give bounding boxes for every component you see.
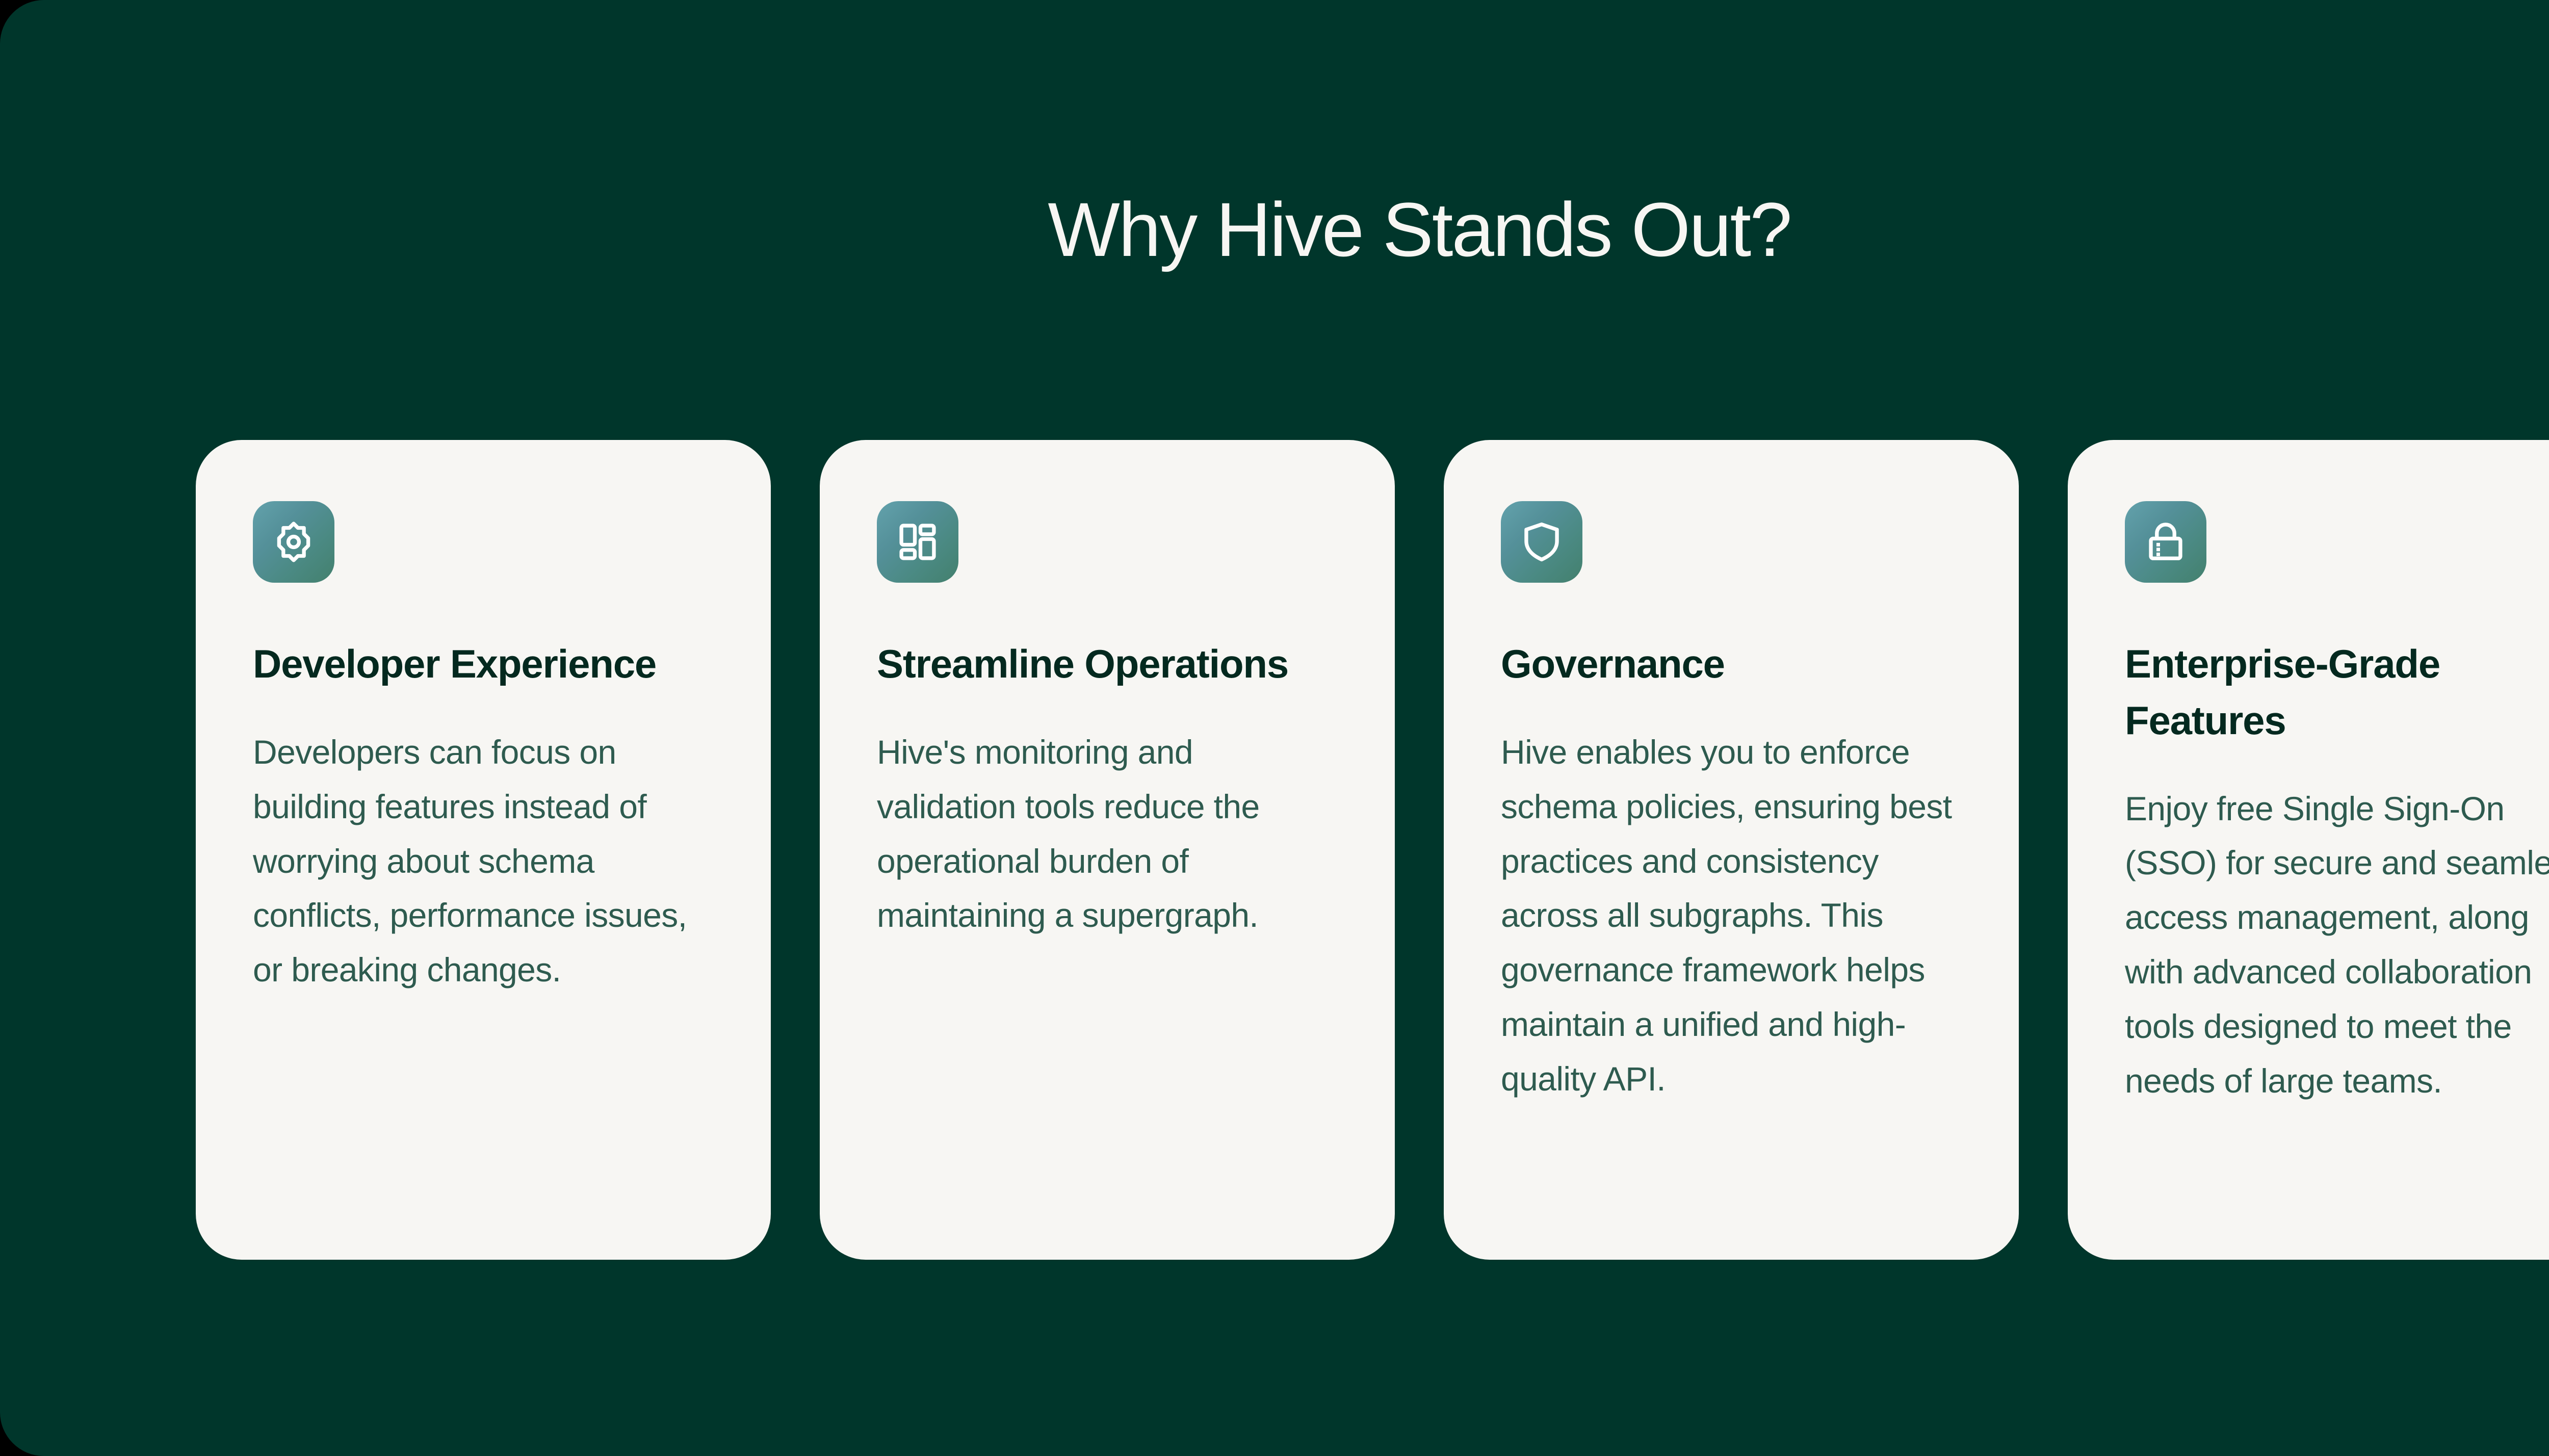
card-title: Enterprise-Grade Features [2125,636,2549,749]
card-title: Developer Experience [253,636,656,692]
dashboard-grid-icon [895,519,940,564]
page-title: Why Hive Stands Out? [0,0,2549,272]
card-body: Developers can focus on building feature… [253,725,714,998]
lock-icon [2143,519,2188,564]
feature-card[interactable]: Governance Hive enables you to enforce s… [1444,440,2019,1260]
feature-card[interactable]: Enterprise-Grade Features Enjoy free Sin… [2068,440,2549,1260]
shield-icon [1519,519,1564,564]
gear-icon [271,519,316,564]
card-body: Hive enables you to enforce schema polic… [1501,725,1962,1106]
feature-card[interactable]: Developer Experience Developers can focu… [196,440,771,1260]
feature-section: Why Hive Stands Out? Developer Experienc… [0,0,2549,1456]
icon-badge [877,501,958,583]
icon-badge [1501,501,1582,583]
feature-card[interactable]: Streamline Operations Hive's monitoring … [820,440,1395,1260]
feature-card-list: Developer Experience Developers can focu… [196,440,2549,1260]
icon-badge [253,501,334,583]
card-body: Enjoy free Single Sign-On (SSO) for secu… [2125,782,2549,1108]
icon-badge [2125,501,2206,583]
card-title: Streamline Operations [877,636,1288,692]
card-title: Governance [1501,636,1725,692]
card-body: Hive's monitoring and validation tools r… [877,725,1338,943]
